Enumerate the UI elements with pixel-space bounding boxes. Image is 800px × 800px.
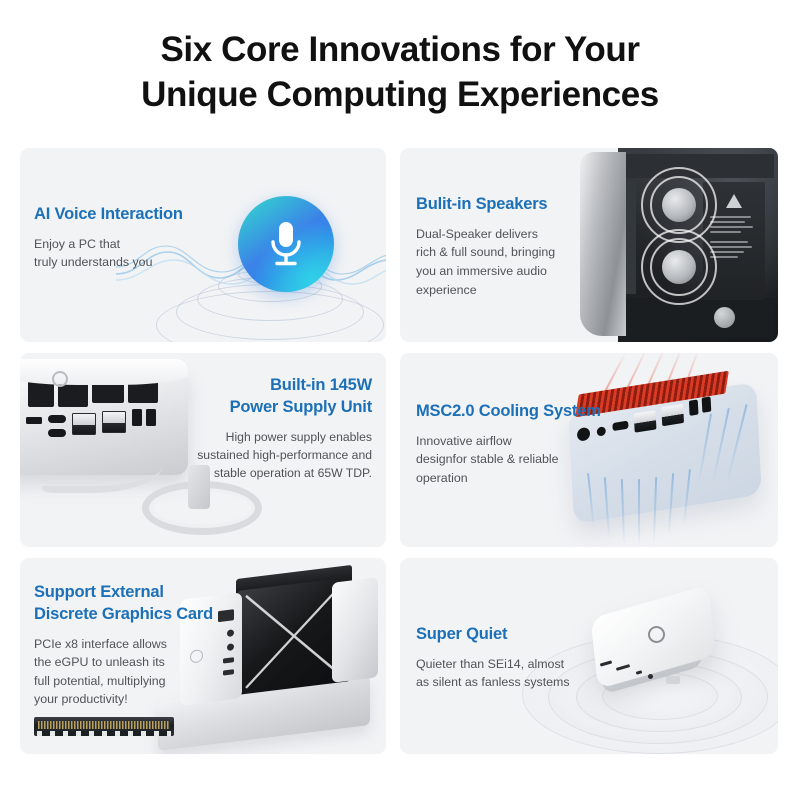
card-text-block: Built-in 145W Power Supply Unit High pow… bbox=[154, 375, 372, 482]
card-title: AI Voice Interaction bbox=[34, 204, 224, 226]
card-text-block: AI Voice Interaction Enjoy a PC that tru… bbox=[34, 204, 224, 272]
card-text-block: Support External Discrete Graphics Card … bbox=[34, 582, 224, 709]
card-body: Enjoy a PC that truly understands you bbox=[34, 235, 224, 272]
microphone-circle bbox=[238, 196, 334, 292]
card-text-block: Super Quiet Quieter than SEi14, almost a… bbox=[416, 624, 606, 692]
feature-card-power-supply-unit[interactable]: Built-in 145W Power Supply Unit High pow… bbox=[20, 353, 386, 547]
card-body: Innovative airflow designfor stable & re… bbox=[416, 432, 616, 488]
mini-pc-interior bbox=[618, 148, 778, 342]
card-text-block: Bulit-in Speakers Dual-Speaker delivers … bbox=[416, 194, 596, 299]
page-title-line-2: Unique Computing Experiences bbox=[40, 73, 760, 118]
power-cable bbox=[42, 449, 162, 493]
feature-card-cooling-system[interactable]: MSC2.0 Cooling System Innovative airflow… bbox=[400, 353, 778, 547]
mini-pc-unit bbox=[592, 602, 714, 690]
card-title: Support External Discrete Graphics Card bbox=[34, 582, 224, 626]
card-title: MSC2.0 Cooling System bbox=[416, 401, 616, 423]
feature-card-built-in-speakers[interactable]: Bulit-in Speakers Dual-Speaker delivers … bbox=[400, 148, 778, 342]
coin-battery bbox=[714, 307, 735, 328]
microphone-icon bbox=[263, 218, 309, 270]
card-title: Bulit-in Speakers bbox=[416, 194, 596, 216]
card-body: Dual-Speaker delivers rich & full sound,… bbox=[416, 225, 596, 299]
page-title: Six Core Innovations for Your Unique Com… bbox=[0, 0, 800, 118]
card-title: Super Quiet bbox=[416, 624, 606, 646]
feature-card-super-quiet[interactable]: Super Quiet Quieter than SEi14, almost a… bbox=[400, 558, 778, 754]
pcie-x8-slot-icon bbox=[34, 717, 174, 736]
feature-highlights-page: Six Core Innovations for Your Unique Com… bbox=[0, 0, 800, 800]
card-body: PCIe x8 interface allows the eGPU to unl… bbox=[34, 635, 224, 709]
speaker-driver-bottom bbox=[640, 228, 718, 306]
feature-card-ai-voice-interaction[interactable]: AI Voice Interaction Enjoy a PC that tru… bbox=[20, 148, 386, 342]
feature-cards-grid: AI Voice Interaction Enjoy a PC that tru… bbox=[20, 148, 780, 754]
card-body: High power supply enables sustained high… bbox=[154, 428, 372, 483]
egpu-side-panel bbox=[332, 577, 378, 683]
page-title-line-1: Six Core Innovations for Your bbox=[40, 28, 760, 73]
card-body: Quieter than SEi14, almost as silent as … bbox=[416, 655, 606, 692]
feature-card-external-graphics-card[interactable]: Support External Discrete Graphics Card … bbox=[20, 558, 386, 754]
card-text-block: MSC2.0 Cooling System Innovative airflow… bbox=[416, 401, 616, 488]
brand-logo-icon bbox=[52, 371, 68, 387]
pcie-pins bbox=[38, 721, 170, 729]
warning-triangle-icon bbox=[726, 194, 742, 208]
card-title: Built-in 145W Power Supply Unit bbox=[154, 375, 372, 419]
pcie-notches bbox=[37, 731, 171, 736]
speaker-artwork bbox=[580, 148, 778, 342]
